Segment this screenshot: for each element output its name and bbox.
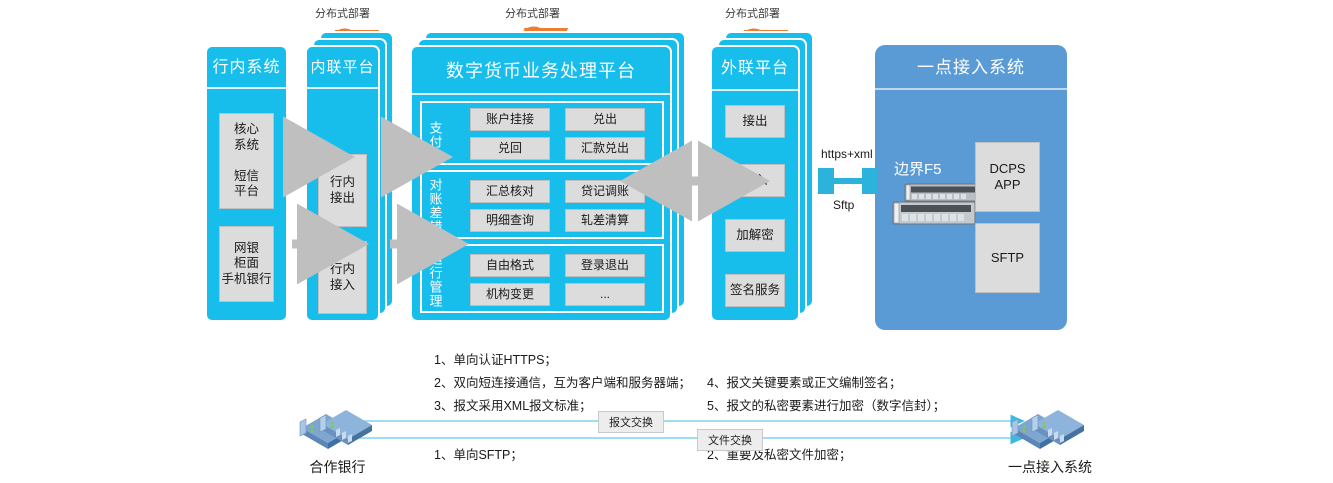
- panel-access-system-title: 一点接入系统: [875, 45, 1067, 90]
- panel-bank-internal-title: 行内系统: [207, 47, 286, 89]
- chip-encrypt-decrypt[interactable]: 加解密: [725, 219, 785, 252]
- deploy-caption-dcep: 分布式部署: [505, 5, 560, 21]
- chip-ext-out[interactable]: 接出: [725, 105, 785, 138]
- panel-intranet: 内联平台 行内 接出 行内 接入: [305, 45, 380, 322]
- chip-ext-in[interactable]: 接入: [725, 164, 785, 197]
- chip-intranet-in[interactable]: 行内 接入: [318, 241, 367, 314]
- deploy-caption-external: 分布式部署: [725, 5, 780, 21]
- panel-access-system: 一点接入系统 边界F5: [875, 45, 1067, 330]
- label-file-exchange: 文件交换: [697, 429, 763, 451]
- chip-summary-check[interactable]: 汇总核对: [470, 180, 550, 203]
- panel-external: 外联平台 接出 接入 加解密 签名服务: [710, 45, 800, 322]
- protocol-label-sftp: Sftp: [833, 198, 854, 212]
- chip-more[interactable]: ...: [565, 283, 645, 306]
- file-note-1: 1、单向SFTP；: [434, 446, 523, 465]
- chip-signature-service[interactable]: 签名服务: [725, 274, 785, 307]
- panel-intranet-card: 内联平台 行内 接出 行内 接入: [305, 45, 380, 322]
- message-note-1: 1、单向认证HTTPS；: [434, 351, 557, 370]
- group-reconciliation-label: 对账差错: [425, 176, 445, 236]
- group-payment: 支付 账户挂接 兑出 兑回 汇款兑出: [420, 101, 664, 165]
- protocol-bidirectional-arrow: [818, 168, 878, 194]
- chip-ebank-counter-mobile[interactable]: 网银 柜面 手机银行: [219, 226, 274, 302]
- chip-org-change[interactable]: 机构变更: [470, 283, 550, 306]
- panel-external-title: 外联平台: [712, 47, 798, 91]
- node-label-partner-bank: 合作银行: [290, 457, 385, 477]
- message-note-4: 4、报文关键要素或正文编制签名；: [707, 374, 901, 393]
- group-operations: 运行管理 自由格式 登录退出 机构变更 ...: [420, 244, 664, 313]
- server-icon-partner-bank: [296, 402, 378, 454]
- message-note-2: 2、双向短连接通信，互为客户端和服务器端；: [434, 374, 691, 393]
- chip-intranet-out[interactable]: 行内 接出: [318, 154, 367, 227]
- network-switch-icon: [891, 182, 983, 230]
- message-note-5: 5、报文的私密要素进行加密（数字信封）；: [707, 397, 945, 416]
- label-message-exchange: 报文交换: [598, 411, 664, 433]
- chip-exchange-back[interactable]: 兑回: [470, 137, 550, 160]
- group-operations-label: 运行管理: [425, 250, 445, 310]
- architecture-diagram: 分布式部署 分布式部署 分布式部署 行内系统 核心 系统 短信 平台 网银 柜面…: [0, 0, 1333, 483]
- chip-remittance-out[interactable]: 汇款兑出: [565, 137, 645, 160]
- group-reconciliation: 对账差错 汇总核对 贷记调账 明细查询 轧差清算: [420, 170, 664, 239]
- panel-bank-internal-card: 行内系统 核心 系统 短信 平台 网银 柜面 手机银行: [205, 45, 288, 322]
- panel-bank-internal: 行内系统 核心 系统 短信 平台 网银 柜面 手机银行: [205, 45, 288, 322]
- panel-dcep-card: 数字货币业务处理平台 支付 账户挂接 兑出 兑回 汇款兑出 对账差错 汇总核对 …: [410, 45, 672, 322]
- node-label-access-system: 一点接入系统: [995, 457, 1105, 477]
- chip-netting-settle[interactable]: 轧差清算: [565, 209, 645, 232]
- chip-dcps-app[interactable]: DCPS APP: [975, 142, 1040, 212]
- message-note-3: 3、报文采用XML报文标准；: [434, 397, 592, 416]
- f5-boundary-label: 边界F5: [894, 158, 942, 179]
- chip-detail-query[interactable]: 明细查询: [470, 209, 550, 232]
- protocol-label-https: https+xml: [821, 147, 873, 161]
- chip-exchange-out[interactable]: 兑出: [565, 108, 645, 131]
- panel-dcep: 数字货币业务处理平台 支付 账户挂接 兑出 兑回 汇款兑出 对账差错 汇总核对 …: [410, 45, 672, 322]
- group-payment-label: 支付: [425, 109, 445, 161]
- deploy-caption-intranet: 分布式部署: [315, 5, 370, 21]
- panel-intranet-title: 内联平台: [307, 47, 378, 89]
- chip-sftp[interactable]: SFTP: [975, 223, 1040, 293]
- server-icon-access-system: [1008, 402, 1090, 454]
- chip-login-logout[interactable]: 登录退出: [565, 254, 645, 277]
- panel-external-card: 外联平台 接出 接入 加解密 签名服务: [710, 45, 800, 322]
- panel-dcep-title: 数字货币业务处理平台: [412, 47, 670, 95]
- chip-core-system[interactable]: 核心 系统 短信 平台: [219, 113, 274, 209]
- chip-free-format[interactable]: 自由格式: [470, 254, 550, 277]
- chip-credit-adjust[interactable]: 贷记调账: [565, 180, 645, 203]
- chip-account-link[interactable]: 账户挂接: [470, 108, 550, 131]
